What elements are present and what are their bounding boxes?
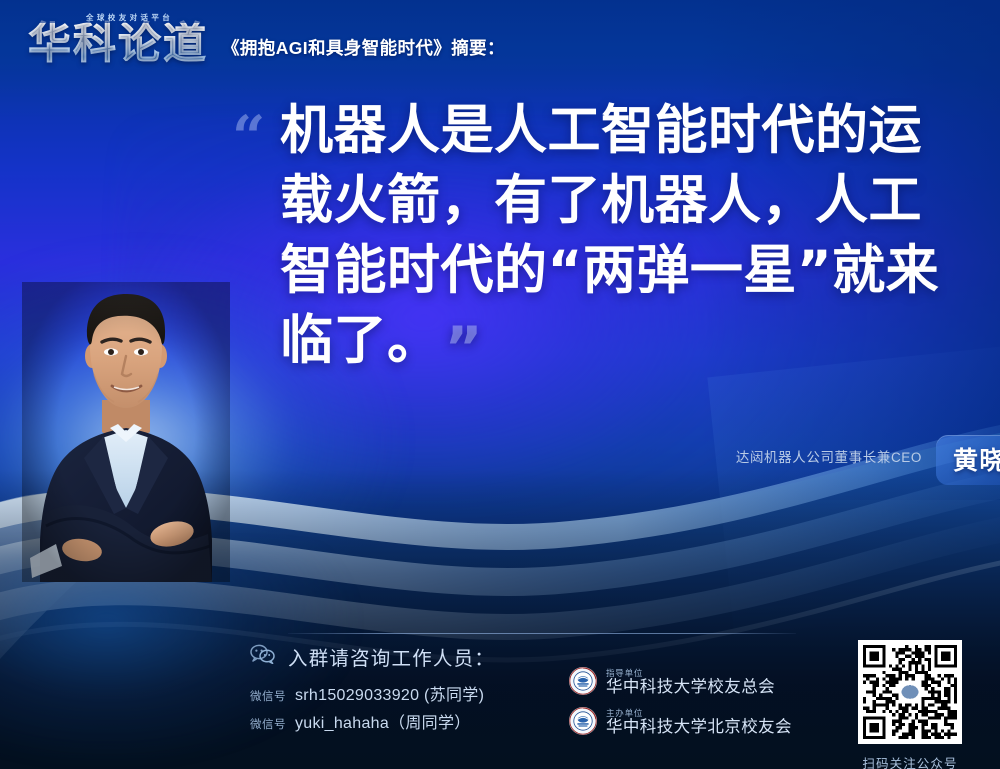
header-subtitle: 《拥抱AGI和具身智能时代》摘要： <box>222 35 505 66</box>
attribution-block: 达闼机器人公司董事长兼CEO 黄晓庆 <box>736 446 922 466</box>
quote-body: 机器人是人工智能时代的运载火箭，有了机器人，人工智能时代的“两弹一星”就来临了。 <box>280 100 939 371</box>
attribution-role: 达闼机器人公司董事长兼CEO <box>736 446 922 466</box>
organization-row: 主办单位 华中科技大学北京校友会 <box>568 706 792 740</box>
organization-kicker: 主办单位 <box>606 709 792 718</box>
hust-seal-icon <box>568 666 598 701</box>
contact-value[interactable]: srh15029033920 (苏同学) <box>295 681 484 705</box>
organization-name: 华中科技大学北京校友会 <box>606 719 792 736</box>
footer-divider <box>288 633 796 634</box>
logo-tagline: 全球校友对话平台 <box>86 12 173 23</box>
brand-logo: 全球校友对话平台 华科论道 <box>28 14 208 66</box>
organization-row: 指导单位 华中科技大学校友总会 <box>568 666 792 700</box>
qr-block: 扫码关注公众号 <box>845 640 975 769</box>
quote-open-mark: “ <box>232 108 265 166</box>
wechat-icon <box>250 644 276 669</box>
contact-value[interactable]: yuki_hahaha（周同学） <box>295 709 471 733</box>
organization-text: 指导单位 华中科技大学校友总会 <box>606 669 775 696</box>
footer-title: 入群请咨询工作人员： <box>288 642 495 671</box>
qr-code-image[interactable] <box>858 640 962 744</box>
quote-close-mark: ” <box>445 310 484 387</box>
hust-seal-icon <box>568 706 598 741</box>
speaker-portrait <box>22 282 230 582</box>
quote-text: 机器人是人工智能时代的运载火箭，有了机器人，人工智能时代的“两弹一星”就来临了。… <box>280 96 952 387</box>
poster-canvas: 全球校友对话平台 华科论道 《拥抱AGI和具身智能时代》摘要： “ 机器人是人工… <box>0 0 1000 769</box>
contact-label: 微信号 <box>250 716 286 732</box>
organization-list: 指导单位 华中科技大学校友总会 <box>568 666 792 746</box>
contact-label: 微信号 <box>250 688 286 704</box>
quote-block: “ 机器人是人工智能时代的运载火箭，有了机器人，人工智能时代的“两弹一星”就来临… <box>232 96 952 387</box>
attribution-name-badge: 黄晓庆 <box>936 435 1000 485</box>
organization-kicker: 指导单位 <box>606 669 775 678</box>
logo-wordmark: 华科论道 <box>28 23 208 66</box>
poster-footer: 入群请咨询工作人员： 微信号 srh15029033920 (苏同学) 微信号 … <box>250 642 990 762</box>
organization-text: 主办单位 华中科技大学北京校友会 <box>606 709 792 736</box>
poster-header: 全球校友对话平台 华科论道 《拥抱AGI和具身智能时代》摘要： <box>28 14 505 66</box>
qr-caption: 扫码关注公众号 <box>845 753 975 769</box>
organization-name: 华中科技大学校友总会 <box>606 679 775 696</box>
